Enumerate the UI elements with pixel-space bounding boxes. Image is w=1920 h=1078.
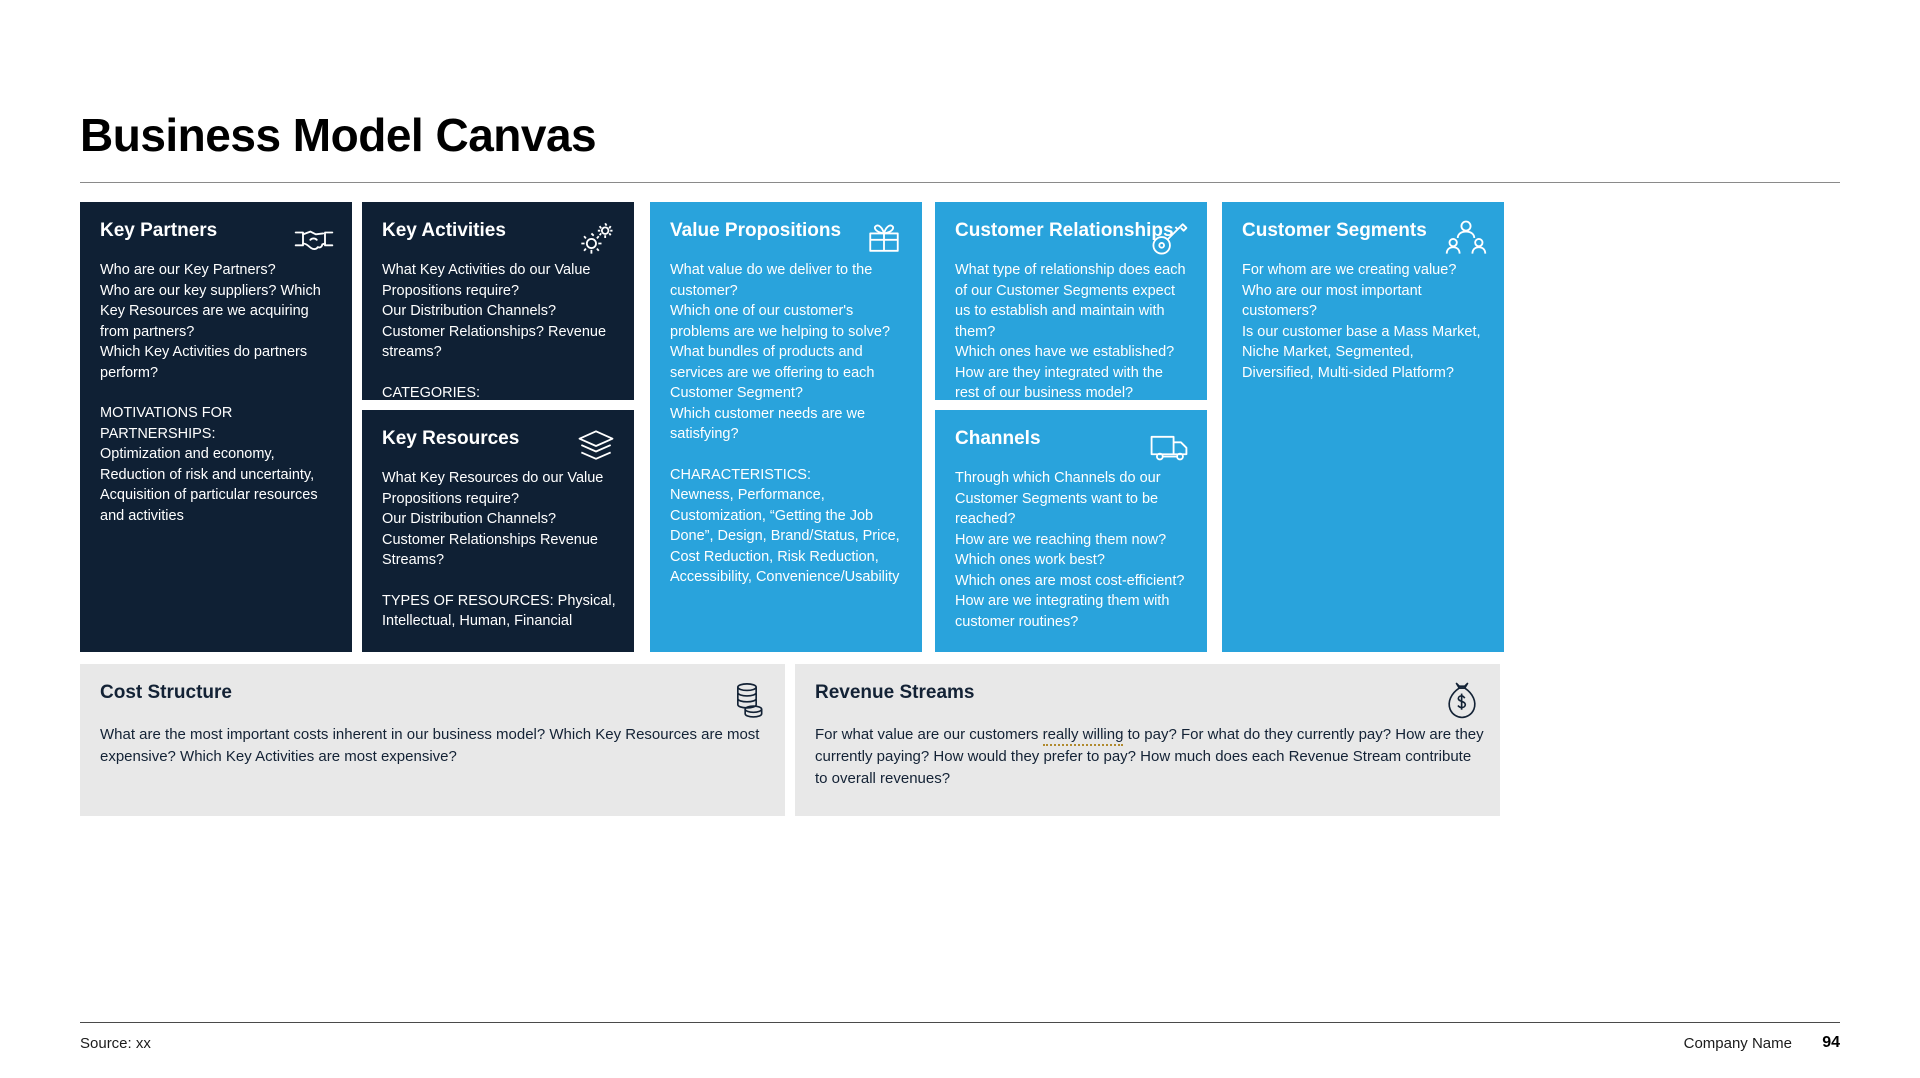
money-bag-icon [1440, 678, 1484, 722]
panel-body-key-partners-2: MOTIVATIONS FOR PARTNERSHIPS: Optimizati… [100, 403, 336, 526]
handshake-icon [292, 216, 336, 260]
panel-body-value-propositions-1: What value do we deliver to the customer… [670, 260, 906, 445]
revenue-text-part1: For what value are our customers [815, 726, 1043, 743]
panel-revenue-streams[interactable]: Revenue Streams For what value are our c… [795, 664, 1500, 816]
panel-customer-segments[interactable]: Customer Segments For whom are we creati… [1222, 202, 1504, 652]
panel-body-cost-structure: What are the most important costs inhere… [100, 724, 769, 768]
coins-icon [725, 678, 769, 722]
panel-customer-relationships[interactable]: Customer Relationships What type of rela… [935, 202, 1207, 400]
slide-canvas: Business Model Canvas Key Partners Who a… [0, 0, 1920, 1078]
panel-body-channels: Through which Channels do our Customer S… [955, 468, 1191, 632]
panel-body-key-resources-2: TYPES OF RESOURCES: Physical, Intellectu… [382, 591, 618, 632]
footer-page-number: 94 [1822, 1034, 1840, 1052]
page-title: Business Model Canvas [80, 108, 596, 162]
revenue-text-spellchecked: really willing [1043, 726, 1124, 746]
panel-key-resources[interactable]: Key Resources What Key Resources do our … [362, 410, 634, 652]
panel-value-propositions[interactable]: Value Propositions What value do we deli… [650, 202, 922, 652]
gift-icon [862, 216, 906, 260]
panel-body-customer-relationships: What type of relationship does each of o… [955, 260, 1191, 400]
panel-cost-structure[interactable]: Cost Structure What are the most importa… [80, 664, 785, 816]
panel-channels[interactable]: Channels Through which Channels do our C… [935, 410, 1207, 652]
panel-body-key-activities-1: What Key Activities do our Value Proposi… [382, 260, 618, 363]
footer-divider [80, 1022, 1840, 1023]
panel-title-cost-structure: Cost Structure [100, 682, 769, 704]
footer-company-name: Company Name [1684, 1035, 1792, 1052]
panel-key-activities[interactable]: Key Activities What Key Activities do ou… [362, 202, 634, 400]
footer-source: Source: xx [80, 1035, 151, 1052]
gears-icon [574, 216, 618, 260]
panel-body-customer-segments: For whom are we creating value? Who are … [1242, 260, 1488, 383]
panel-body-key-resources-1: What Key Resources do our Value Proposit… [382, 468, 618, 571]
panel-key-partners[interactable]: Key Partners Who are our Key Partners? W… [80, 202, 352, 652]
people-icon [1444, 216, 1488, 260]
layers-icon [574, 424, 618, 468]
panel-body-key-activities-2: CATEGORIES: Production, Problem Solving,… [382, 383, 618, 401]
key-icon [1147, 216, 1191, 260]
panel-title-revenue-streams: Revenue Streams [815, 682, 1484, 704]
panel-body-revenue-streams: For what value are our customers really … [815, 724, 1484, 790]
panel-body-key-partners-1: Who are our Key Partners? Who are our ke… [100, 260, 336, 383]
truck-icon [1147, 424, 1191, 468]
title-divider [80, 182, 1840, 183]
panel-body-value-propositions-2: CHARACTERISTICS: Newness, Performance, C… [670, 465, 906, 588]
